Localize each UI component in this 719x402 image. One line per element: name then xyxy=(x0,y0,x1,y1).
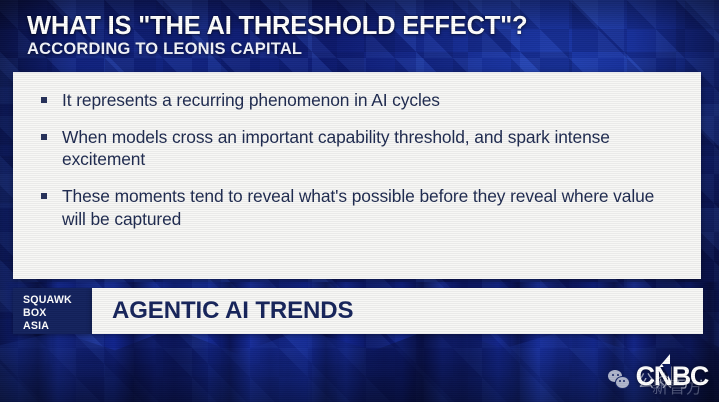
cnbc-n-wedge-icon xyxy=(662,364,671,381)
bullet-square-icon xyxy=(41,193,47,199)
list-item-text: These moments tend to reveal what's poss… xyxy=(62,186,654,229)
list-item-text: It represents a recurring phenomenon in … xyxy=(62,90,440,110)
list-item: When models cross an important capabilit… xyxy=(39,126,675,171)
cnbc-logo-text: CNBC xyxy=(636,361,708,391)
list-item: It represents a recurring phenomenon in … xyxy=(39,89,675,112)
bullet-list: It represents a recurring phenomenon in … xyxy=(13,73,701,230)
show-logo-line-2: BOX xyxy=(23,307,92,320)
broadcast-screen: WHAT IS "THE AI THRESHOLD EFFECT"? ACCOR… xyxy=(0,0,719,402)
list-item-text: When models cross an important capabilit… xyxy=(62,127,610,170)
cnbc-logo: CNBC xyxy=(636,363,708,390)
list-item: These moments tend to reveal what's poss… xyxy=(39,185,675,230)
content-card: It represents a recurring phenomenon in … xyxy=(13,72,701,279)
page-title: WHAT IS "THE AI THRESHOLD EFFECT"? xyxy=(27,13,687,40)
bullet-square-icon xyxy=(41,134,47,140)
headline-block: WHAT IS "THE AI THRESHOLD EFFECT"? ACCOR… xyxy=(27,13,687,58)
page-subtitle: ACCORDING TO LEONIS CAPITAL xyxy=(27,41,687,58)
wechat-icon xyxy=(608,370,630,389)
lower-third-banner: AGENTIC AI TRENDS xyxy=(92,288,703,334)
lower-third-text: AGENTIC AI TRENDS xyxy=(92,297,353,325)
show-logo-badge: SQUAWK BOX ASIA xyxy=(13,288,92,334)
show-logo-line-3: ASIA xyxy=(23,320,92,333)
show-logo-line-1: SQUAWK xyxy=(23,294,92,307)
bullet-square-icon xyxy=(41,97,47,103)
